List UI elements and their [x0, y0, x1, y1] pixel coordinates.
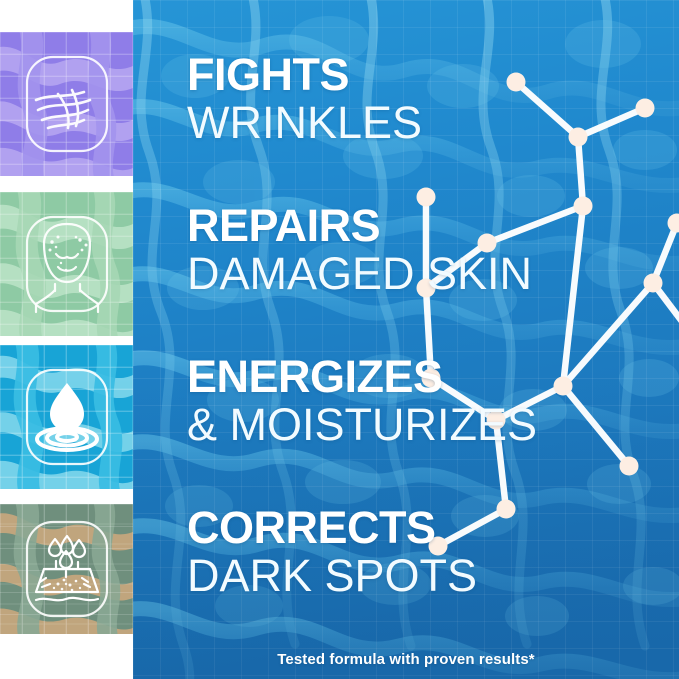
sidebar-tile-moisture[interactable]	[0, 345, 133, 489]
claim-headline: FIGHTS	[187, 52, 679, 98]
claim-subline: & MOISTURIZES	[187, 400, 679, 450]
claim-corrects-dark-spots: CORRECTS DARK SPOTS	[187, 505, 679, 601]
moisture-tile-grid	[0, 345, 133, 489]
sidebar-tile-dark-spots[interactable]	[0, 504, 133, 634]
claim-subline: WRINKLES	[187, 98, 679, 148]
sidebar-tile-damaged-skin[interactable]	[0, 192, 133, 336]
benefit-icon-sidebar	[0, 0, 133, 679]
claim-repairs-damaged-skin: REPAIRS DAMAGED SKIN	[187, 203, 679, 299]
main-panel: FIGHTS WRINKLES REPAIRS DAMAGED SKIN ENE…	[133, 0, 679, 679]
footnote-text: Tested formula with proven results*	[133, 651, 679, 668]
wrinkles-tile-grid	[0, 32, 133, 176]
dark-spots-tile-grid	[0, 504, 133, 634]
claim-headline: ENERGIZES	[187, 354, 679, 400]
claim-energizes-moisturizes: ENERGIZES & MOISTURIZES	[187, 354, 679, 450]
claim-subline: DAMAGED SKIN	[187, 249, 679, 299]
damaged-skin-tile-grid	[0, 192, 133, 336]
claim-subline: DARK SPOTS	[187, 551, 679, 601]
sidebar-tile-wrinkles[interactable]	[0, 32, 133, 176]
claim-fights-wrinkles: FIGHTS WRINKLES	[187, 52, 679, 148]
promo-infographic: FIGHTS WRINKLES REPAIRS DAMAGED SKIN ENE…	[0, 0, 679, 679]
claim-headline: REPAIRS	[187, 203, 679, 249]
claims-list: FIGHTS WRINKLES REPAIRS DAMAGED SKIN ENE…	[187, 0, 679, 679]
claim-headline: CORRECTS	[187, 505, 679, 551]
